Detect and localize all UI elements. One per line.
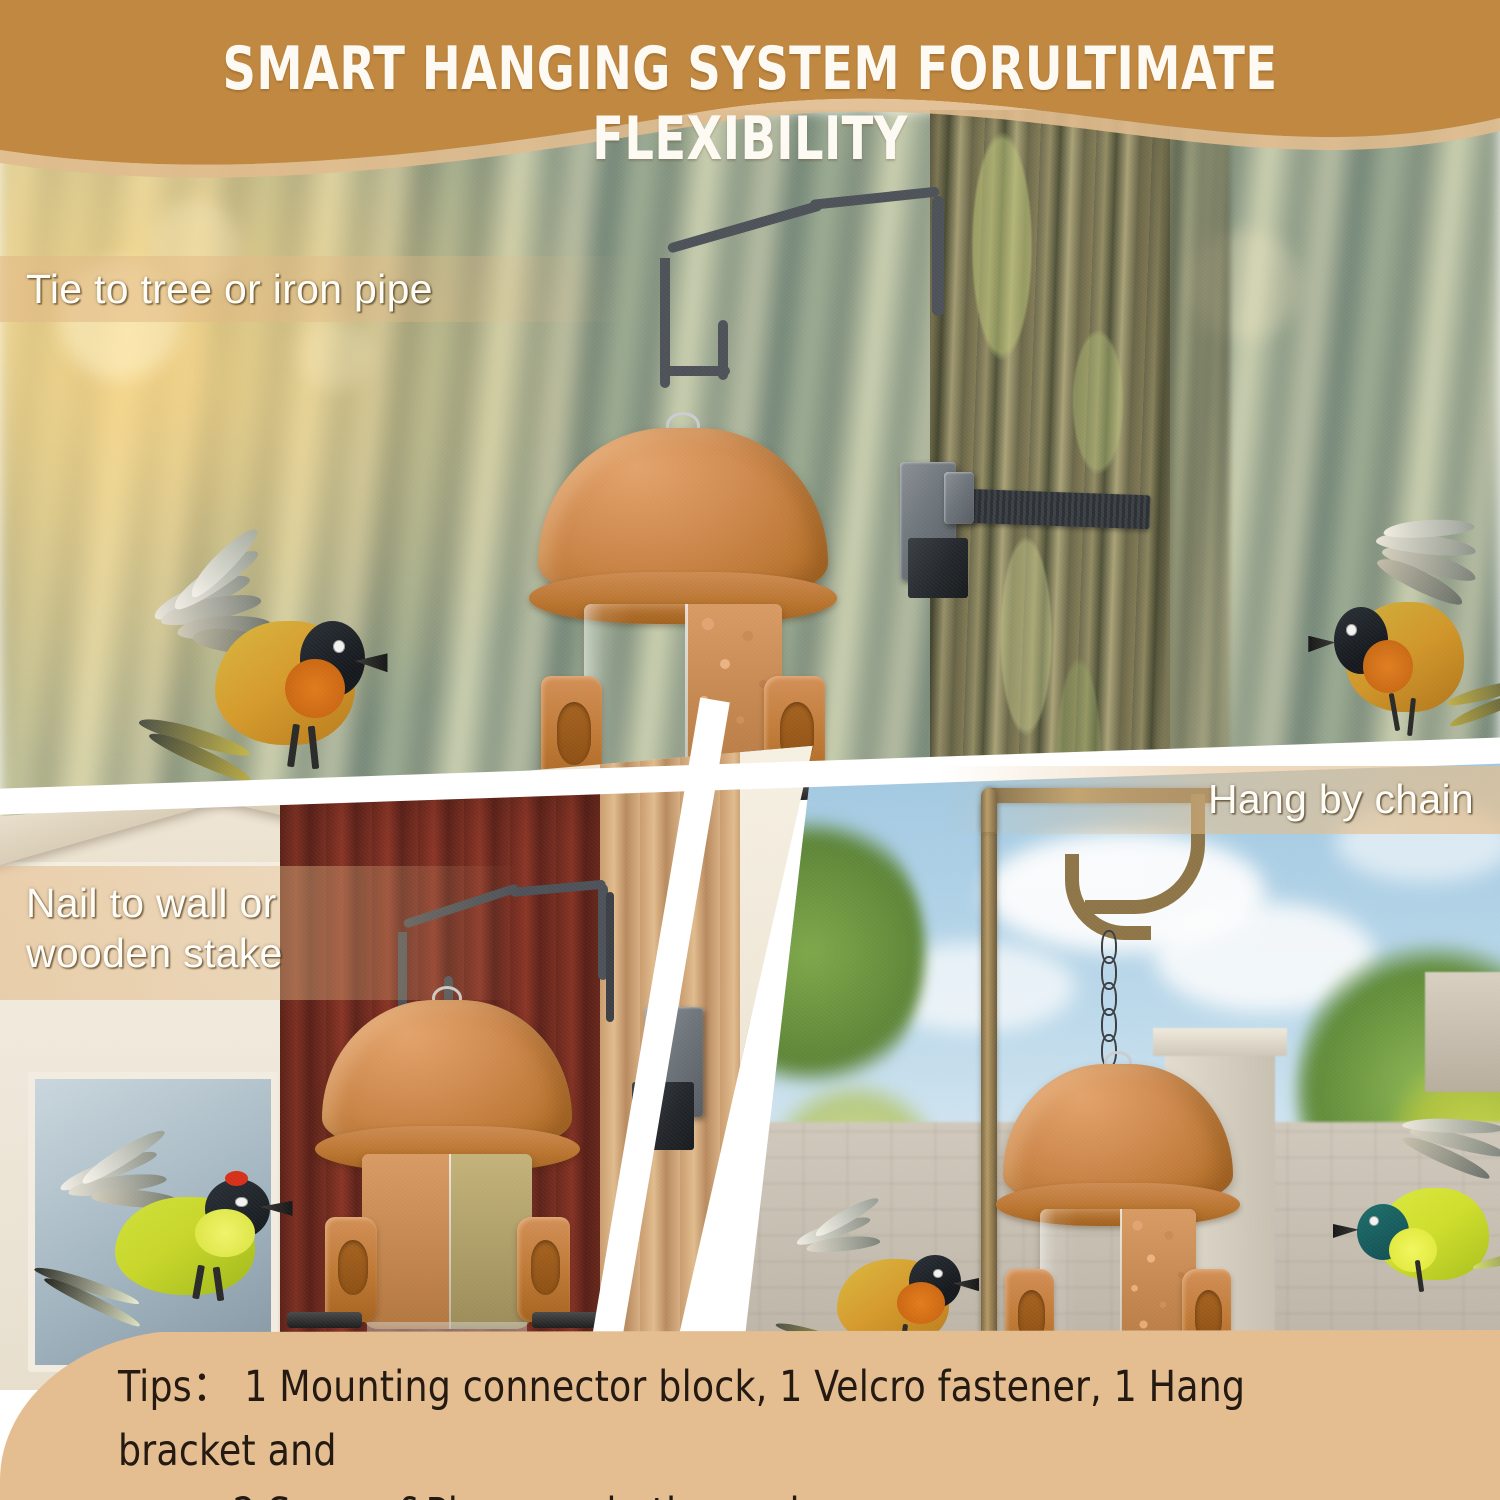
bird-right bbox=[1300, 530, 1500, 770]
bird-eye bbox=[1369, 1216, 1379, 1226]
shepherd-hook-elbow bbox=[981, 788, 997, 832]
tree-trunk-secondary bbox=[1160, 110, 1230, 830]
panel-nail-to-wall bbox=[0, 742, 860, 1390]
mounting-connector-tab bbox=[944, 472, 974, 524]
feeder-port-hole bbox=[531, 1240, 560, 1295]
tips-line-2: 2 Screws&Plugs are in the package bbox=[118, 1483, 1379, 1500]
bird-tail bbox=[1447, 669, 1500, 746]
bird-eye bbox=[1346, 624, 1357, 636]
photo-forest-scene bbox=[0, 110, 1500, 830]
bird-tail bbox=[1473, 1240, 1500, 1300]
photo-barn-wall-scene bbox=[0, 742, 860, 1390]
bokeh-light bbox=[300, 320, 370, 390]
bird-eye bbox=[933, 1269, 943, 1279]
bird-tail bbox=[30, 1261, 145, 1334]
tips-content-1: 1 Mounting connector block, 1 Velcro fas… bbox=[118, 1362, 1245, 1476]
bird-breast bbox=[897, 1282, 945, 1324]
feeder-seed-tube bbox=[362, 1154, 532, 1329]
caption-nail-line-1: Nail to wall or bbox=[26, 878, 283, 928]
caption-nail-to-wall: Nail to wall or wooden stake bbox=[0, 872, 309, 986]
bird-breast bbox=[195, 1209, 255, 1256]
barn-wall-edge bbox=[816, 742, 860, 1390]
bird-left bbox=[50, 1132, 300, 1347]
barn-trim bbox=[740, 742, 830, 1390]
bird-beak bbox=[1333, 1224, 1359, 1238]
bird-breast bbox=[1389, 1228, 1437, 1272]
feeder-port-hole bbox=[338, 1240, 367, 1295]
bird-crown-patch bbox=[225, 1171, 248, 1186]
header-banner: SMART HANGING SYSTEM FORULTIMATE FLEXIBI… bbox=[0, 0, 1500, 180]
bird-beak bbox=[1308, 636, 1335, 653]
stone-pillar-cap bbox=[1153, 1028, 1287, 1056]
feeder-port-left bbox=[325, 1217, 378, 1322]
panel-tie-to-tree bbox=[0, 110, 1500, 830]
hang-bracket-rod bbox=[660, 170, 1000, 470]
bird-right bbox=[1333, 1128, 1500, 1328]
feeder-port-right bbox=[517, 1217, 570, 1322]
bird-feeder-product bbox=[322, 1000, 572, 1350]
tips-bar: Tips： 1 Mounting connector block, 1 Velc… bbox=[0, 1330, 1500, 1500]
bird-breast bbox=[285, 659, 345, 718]
tips-text: Tips： 1 Mounting connector block, 1 Velc… bbox=[118, 1356, 1379, 1500]
tips-label: Tips： bbox=[118, 1362, 232, 1412]
bracket-drop-rod bbox=[606, 892, 614, 1022]
caption-hang-by-chain: Hang by chain bbox=[1182, 768, 1500, 832]
feeder-tube-divider bbox=[449, 1154, 452, 1329]
bird-eye bbox=[235, 1197, 248, 1208]
tips-line-1: Tips： 1 Mounting connector block, 1 Velc… bbox=[118, 1356, 1379, 1483]
gazebo-roof bbox=[1425, 972, 1500, 1092]
mounting-connector-dark-clip bbox=[908, 538, 968, 598]
infographic-root: Tie to tree or iron pipe Nail to wall or… bbox=[0, 0, 1500, 1500]
caption-tie-to-tree: Tie to tree or iron pipe bbox=[0, 258, 459, 322]
caption-nail-line-2: wooden stake bbox=[26, 928, 283, 978]
velcro-fastener bbox=[959, 489, 1150, 530]
header-title: SMART HANGING SYSTEM FORULTIMATE FLEXIBI… bbox=[105, 34, 1395, 174]
